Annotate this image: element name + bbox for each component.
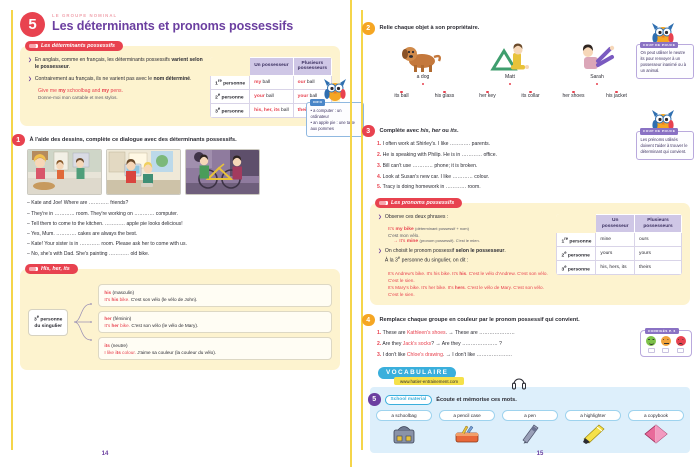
exercise-number: 2 — [362, 22, 375, 35]
table-row: 3e personne his, hers, its theirs — [557, 261, 682, 275]
cell-singular: my ball — [250, 75, 294, 89]
matching-object[interactable]: his jacket — [595, 88, 638, 99]
pen-icon — [502, 423, 558, 445]
item-number: 2. — [377, 152, 381, 158]
table-col-singular: Un possesseur — [596, 215, 635, 233]
exercise-title: Écoute et mémorise ces mots. — [436, 397, 517, 403]
item-pre: I don't like — [383, 352, 407, 358]
page-title: Les déterminants et pronoms possessifs — [52, 19, 293, 33]
lesson-bullet: ❯ On choisit le pronom possessif selon l… — [378, 248, 549, 265]
leaf-translation: C'est son vélo (le vélo de Mary). — [131, 323, 198, 328]
leaf-word: her — [104, 316, 111, 321]
connector-dot[interactable] — [596, 83, 598, 85]
page-spine — [350, 0, 352, 467]
row-label: 1re personne — [557, 233, 596, 247]
dog-illustration — [380, 39, 466, 73]
object-label: his jacket — [606, 93, 627, 99]
lesson-tab-label: Les déterminants possessifs — [25, 41, 123, 51]
dialogue-line: – Yes, Mum. ………… cakes are always the be… — [27, 231, 340, 237]
illustration-kitchen-scene — [27, 149, 102, 195]
table-row: 1re personne my ball our ball — [211, 75, 332, 89]
cell-plural: theirs — [635, 261, 682, 275]
chapter-header: 5 LE GROUPE NOMINAL Les déterminants et … — [20, 12, 340, 37]
bullet-text: En anglais, comme en français, les déter… — [35, 57, 203, 72]
exercise-title: À l'aide des dessins, complète ce dialog… — [30, 137, 237, 143]
item-text: Tracy is doing homework in ………… room. — [383, 184, 481, 190]
vocabulaire-panel: 5 School material Écoute et mémorise ces… — [370, 387, 690, 453]
object-label: her shoes — [563, 93, 585, 99]
pronoun-example-2: → It's mine (pronom possessif). C'est le… — [393, 238, 549, 244]
item-colored: Kathleen's shoes — [407, 330, 446, 336]
sad-face-icon — [676, 336, 686, 346]
leaf-translation: C'est son vélo (le vélo de John). — [131, 297, 198, 302]
exercise-number: 1 — [12, 134, 25, 147]
cell-plural: yours — [635, 247, 682, 261]
corriges-tag: CORRIGÉS P. 6 — [645, 328, 679, 334]
neutral-face-icon — [661, 336, 671, 346]
pencil-case-icon — [439, 423, 495, 445]
illustration-computer-scene — [106, 149, 181, 195]
exercise-title: Complète avec his, her ou its. — [380, 128, 459, 134]
item-post: ? → Are they ………………… ? — [431, 341, 502, 347]
item-text: Bill can't use ………… phone; it is broken. — [383, 163, 478, 169]
matt-illustration — [467, 39, 553, 73]
row-label: 2e personne — [557, 247, 596, 261]
schoolbag-icon — [376, 423, 432, 445]
lesson-bullet: ❯ Observe ces deux phrases : — [378, 214, 549, 221]
item-post: . → These are ………………… — [446, 330, 515, 336]
exercise-number: 4 — [362, 314, 375, 327]
vocab-card-highlighter[interactable]: a highlighter — [565, 410, 621, 445]
leaf-gender: (féminin) — [113, 316, 131, 321]
info-tag: INFO — [310, 99, 325, 106]
corriges-self-assessment[interactable]: CORRIGÉS P. 6 — [640, 330, 692, 357]
assessment-checkbox[interactable] — [648, 348, 655, 354]
vocabulaire-url[interactable]: www.hatier-entrainement.com — [394, 377, 464, 385]
bullet-text: On choisit le pronom possessif selon le … — [385, 248, 506, 265]
item-number: 2. — [377, 341, 381, 347]
item-colored: Chloe's drawing — [407, 352, 443, 358]
leaf-gender: (neutre) — [111, 343, 127, 348]
lesson-tab-label: Les pronoms possessifs — [375, 198, 462, 208]
row-label: 2e personne — [211, 89, 250, 103]
leaf-word: his — [104, 290, 111, 295]
table-row: 1re personne mine ours — [557, 233, 682, 247]
item-text: Look at Susan's new car. I like ………… col… — [383, 174, 490, 180]
coup-de-pouce-box-2: COUP DE POUCE Les prénoms utilisés doive… — [636, 131, 694, 160]
item-text: I often work at Shirley's. I like ………… p… — [383, 141, 490, 147]
vocab-card-pen[interactable]: a pen — [502, 410, 558, 445]
table-row: 2e personne yours yours — [557, 247, 682, 261]
assessment-checkbox[interactable] — [662, 348, 669, 354]
table-col-plural: Plusieurs possesseurs — [635, 215, 682, 233]
connector-dot[interactable] — [422, 83, 424, 85]
mindmap-root: 3e personnedu singulier — [28, 309, 68, 336]
vocabulaire-chip: School material — [385, 395, 433, 405]
happy-face-icon — [646, 336, 656, 346]
illustration-garage-bike-scene — [185, 149, 260, 195]
headphones-icon — [512, 373, 526, 391]
cell-singular: yours — [596, 247, 635, 261]
exercise-number: 3 — [362, 125, 375, 138]
item-text: He is speaking with Philip. He is in ………… — [383, 152, 497, 158]
table-col-singular: Un possesseur — [250, 58, 294, 76]
leaf-gender: (masculin) — [112, 290, 134, 295]
dialogue-line: – Kate! Your sister is in ………… room. Ple… — [27, 241, 340, 247]
bullet-text: Observe ces deux phrases : — [385, 214, 448, 221]
item-number: 4. — [377, 174, 381, 180]
chapter-number: 5 — [20, 12, 45, 37]
dialogue-line: – Tell them to come to the kitchen. …………… — [27, 221, 340, 227]
exercise-3: 3 Complète avec his, her ou its. 1. I of… — [364, 125, 690, 192]
row-label: 3e personne — [211, 103, 250, 117]
right-margin-rule — [361, 10, 363, 450]
mindmap-leaf-her: her (féminin) It's her bike. C'est son v… — [98, 311, 332, 333]
pronoun-example-1: It's my bike (déterminant possessif + no… — [388, 226, 549, 232]
lesson-pronoms-possessifs: Les pronoms possessifs ❯ Observe ces deu… — [370, 203, 690, 305]
vocab-card-schoolbag[interactable]: a schoolbag — [376, 410, 432, 445]
dialogue-line: – No, she's with Dad. She's painting ………… — [27, 251, 340, 257]
vocab-label: a schoolbag — [376, 410, 432, 421]
matching-owner-a-dog[interactable]: a dog — [380, 39, 466, 85]
bullet-arrow-icon: ❯ — [28, 76, 32, 83]
lesson-his-her-its: His, her, its 3e personnedu singulier hi… — [20, 269, 340, 369]
mindmap-his-her-its: 3e personnedu singulier his (masculin) I… — [28, 284, 332, 359]
matching-owner-sarah[interactable]: Sarah — [554, 39, 640, 85]
highlighter-icon — [565, 423, 621, 445]
item-post: . → I don't like ………………… — [443, 352, 512, 358]
item-colored: Jack's socks — [403, 341, 431, 347]
copybook-icon — [628, 423, 684, 445]
object-label: its ball — [394, 93, 408, 99]
vocab-label: a highlighter — [565, 410, 621, 421]
coup-de-pouce-tag: COUP DE POUCE — [640, 42, 678, 49]
matching-object[interactable]: her key — [466, 88, 509, 99]
owner-label: a dog — [380, 74, 466, 80]
coup-de-pouce-box-1: COUP DE POUCE On peut utiliser le neutre… — [636, 44, 694, 79]
matching-object[interactable]: its collar — [509, 88, 552, 99]
exercise-number: 5 — [368, 393, 381, 406]
workbook-spread: 5 LE GROUPE NOMINAL Les déterminants et … — [0, 0, 700, 467]
exercise-1-dialogue: – Kate and Joe! Where are ………… friends? … — [27, 200, 340, 257]
object-label: her key — [479, 93, 495, 99]
dialogue-line: – They're in ………… room. They're working … — [27, 211, 340, 217]
exercise-item[interactable]: 5. Tracy is doing homework in ………… room. — [377, 184, 690, 191]
left-page: 5 LE GROUPE NOMINAL Les déterminants et … — [0, 0, 350, 467]
item-number: 1. — [377, 141, 381, 147]
exercise-title: Remplace chaque groupe en couleur par le… — [380, 317, 580, 323]
example-translation: Donne-moi mon cartable et mes stylos. — [38, 95, 203, 100]
exercise-title: Relie chaque objet à son propriétaire. — [380, 25, 480, 31]
matching-object[interactable]: her shoes — [552, 88, 595, 99]
cell-singular: your ball — [250, 89, 294, 103]
matching-object[interactable]: its ball — [380, 88, 423, 99]
exercise-2: 2 Relie chaque objet à son propriétaire. — [364, 22, 690, 99]
exercise-1: 1 À l'aide des dessins, complète ce dial… — [14, 134, 340, 257]
cell-singular: his, hers, its — [596, 261, 635, 275]
pronoun-example-4: It's Mary's bike. It's her bike. It's he… — [388, 284, 549, 298]
item-pre: These are — [383, 330, 407, 336]
row-label: 3e personne — [557, 261, 596, 275]
lesson-tab-label: His, her, its — [25, 264, 78, 274]
illustration-row — [27, 149, 340, 195]
item-pre: Are they — [382, 341, 402, 347]
coup-de-pouce-tag: COUP DE POUCE — [640, 128, 678, 135]
assessment-option-happy[interactable] — [646, 336, 657, 353]
mindmap-connectors — [74, 296, 92, 348]
owner-label: Sarah — [554, 74, 640, 80]
left-page-number: 14 — [0, 451, 350, 457]
item-number: 3. — [377, 352, 381, 358]
left-margin-rule — [11, 10, 13, 450]
cell-singular: mine — [596, 233, 635, 247]
chapter-kicker: LE GROUPE NOMINAL — [52, 13, 293, 18]
lesson-determinants-possessifs: Les déterminants possessifs ❯ En anglais… — [20, 46, 340, 126]
coup-de-pouce-text: On peut utiliser le neutre its pour renv… — [641, 50, 687, 73]
right-page: 2 Relie chaque objet à son propriétaire. — [350, 0, 700, 467]
table-col-plural: Plusieurs possesseurs — [293, 58, 331, 76]
vocab-label: a pencil case — [439, 410, 495, 421]
vocabulaire-banner: VOCABULAIRE www.hatier-entrainement.com — [378, 367, 518, 386]
matching-object[interactable]: his glass — [423, 88, 466, 99]
object-label: his glass — [435, 93, 454, 99]
mindmap-leaf-his: his (masculin) It's his bike. C'est son … — [98, 284, 332, 306]
coup-de-pouce-card: COUP DE POUCE Les prénoms utilisés doive… — [636, 131, 694, 160]
right-page-number: 15 — [350, 451, 700, 457]
sarah-illustration — [554, 39, 640, 73]
vocab-card-pencil-case[interactable]: a pencil case — [439, 410, 495, 445]
coup-de-pouce-text: Les prénoms utilisés doivent t'aider à t… — [641, 137, 688, 154]
exercise-item[interactable]: 4. Look at Susan's new car. I like ………… … — [377, 174, 690, 181]
vocab-card-copybook[interactable]: a copybook — [628, 410, 684, 445]
bullet-arrow-icon: ❯ — [378, 248, 382, 265]
leaf-word: its — [104, 343, 109, 348]
vocab-label: a copybook — [628, 410, 684, 421]
assessment-option-neutral[interactable] — [660, 336, 671, 353]
vocab-label: a pen — [502, 410, 558, 421]
matching-owner-matt[interactable]: Matt — [467, 39, 553, 85]
pronoms-table: Un possesseur Plusieurs possesseurs 1re … — [556, 214, 682, 275]
assessment-option-sad[interactable] — [675, 336, 686, 353]
lesson-bullet: ❯ Contrairement au français, ils ne vari… — [28, 76, 203, 83]
item-number: 1. — [377, 330, 381, 336]
coup-de-pouce-card: COUP DE POUCE On peut utiliser le neutre… — [636, 44, 694, 79]
owl-mascot-icon — [322, 78, 348, 102]
connector-dot[interactable] — [509, 83, 511, 85]
mindmap-leaf-its: its (neutre) I like its colour. J'aime s… — [98, 337, 332, 359]
object-label: its collar — [521, 93, 539, 99]
example-english: Give me my schoolbag and my pens. — [38, 88, 203, 94]
bullet-arrow-icon: ❯ — [28, 57, 32, 72]
pronoun-example-3: It's Andrew's bike. It's his bike. It's … — [388, 270, 549, 284]
bullet-text: Contrairement au français, ils ne varien… — [35, 76, 192, 83]
cell-singular: his, her, its ball — [250, 103, 294, 117]
lesson-bullet: ❯ En anglais, comme en français, les dét… — [28, 57, 203, 72]
item-number: 5. — [377, 184, 381, 190]
leaf-translation: J'aime sa couleur (la couleur du vélo). — [137, 350, 216, 355]
row-label: 1re personne — [211, 75, 250, 89]
dialogue-line: – Kate and Joe! Where are ………… friends? — [27, 200, 340, 206]
assessment-checkbox[interactable] — [677, 348, 684, 354]
cell-plural: ours — [635, 233, 682, 247]
bullet-arrow-icon: ❯ — [378, 214, 382, 221]
exercise-item[interactable]: 3. Bill can't use ………… phone; it is brok… — [377, 163, 690, 170]
owner-label: Matt — [467, 74, 553, 80]
item-number: 3. — [377, 163, 381, 169]
